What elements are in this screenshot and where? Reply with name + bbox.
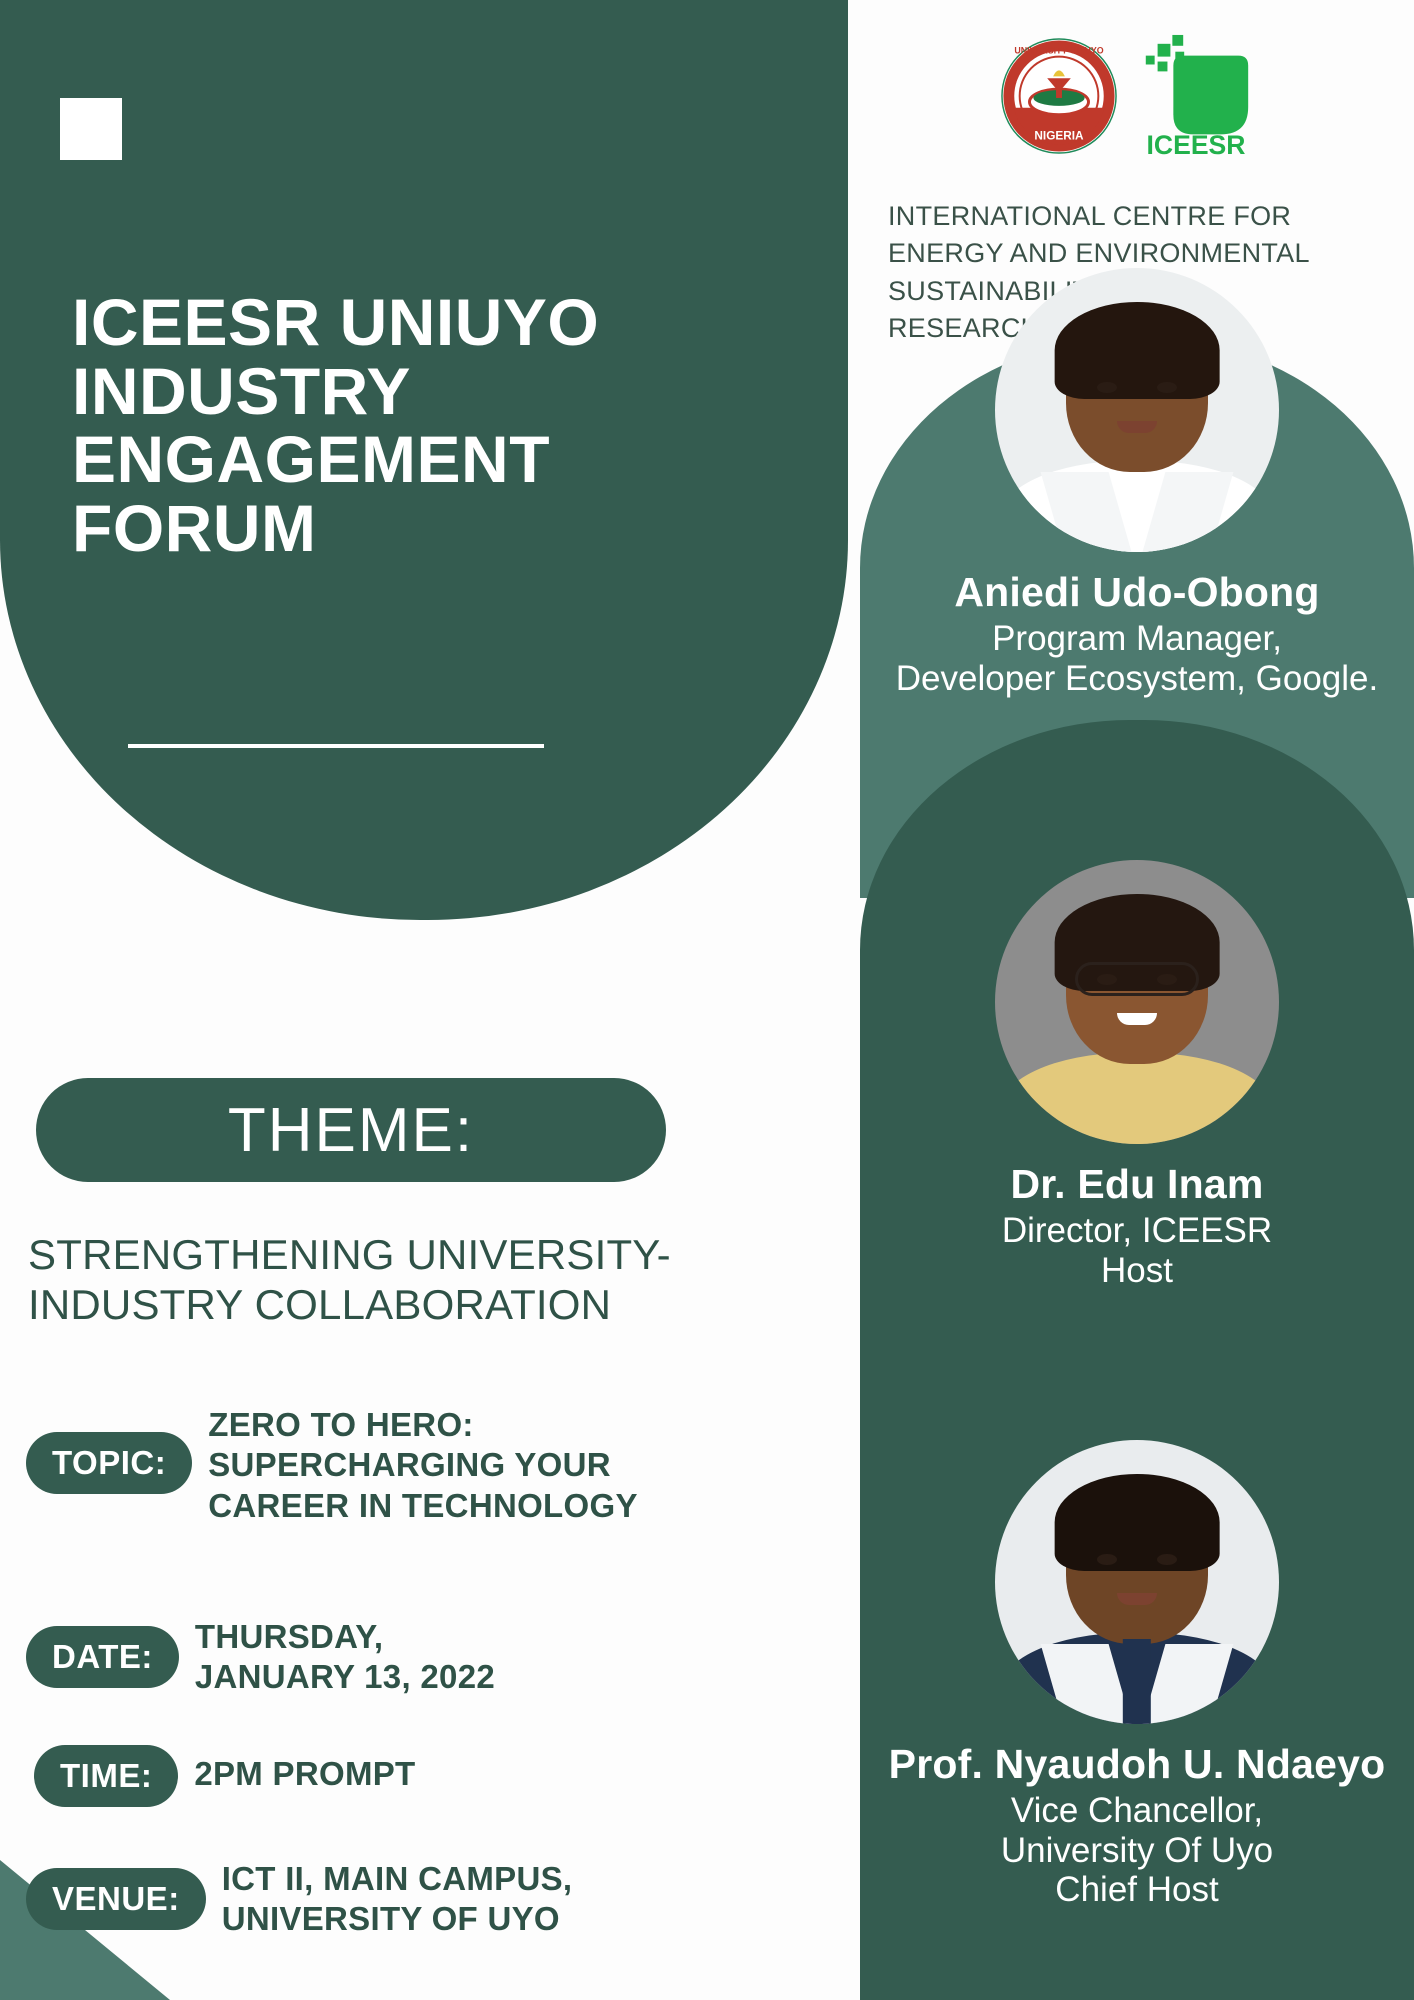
speaker-3-role: Vice Chancellor, University Of Uyo Chief… xyxy=(860,1791,1414,1910)
logo-group: NIGERIA UNIVERSITY OF UYO ICEESR xyxy=(1000,32,1300,160)
uniuyo-logo-icon: NIGERIA UNIVERSITY OF UYO xyxy=(1000,37,1118,155)
date-value: THURSDAY, JANUARY 13, 2022 xyxy=(195,1608,495,1698)
speaker-3-avatar xyxy=(995,1440,1279,1724)
title-line-2: INDUSTRY xyxy=(72,357,712,426)
topic-line-3: CAREER IN TECHNOLOGY xyxy=(208,1486,638,1526)
speaker-card-2: Dr. Edu Inam Director, ICEESR Host xyxy=(860,860,1414,1290)
detail-row-time: TIME: 2PM PROMPT xyxy=(34,1745,416,1807)
venue-label: VENUE: xyxy=(26,1868,206,1930)
speaker-3-name: Prof. Nyaudoh U. Ndaeyo xyxy=(860,1742,1414,1787)
title-divider xyxy=(128,744,544,748)
title-line-3: ENGAGEMENT xyxy=(72,425,712,494)
detail-row-date: DATE: THURSDAY, JANUARY 13, 2022 xyxy=(26,1608,495,1698)
speaker-3-role-line-2: University Of Uyo xyxy=(860,1831,1414,1871)
iceesr-logo-icon: ICEESR xyxy=(1132,32,1260,160)
svg-text:UNIVERSITY OF UYO: UNIVERSITY OF UYO xyxy=(1014,46,1103,56)
speaker-2-role: Director, ICEESR Host xyxy=(860,1211,1414,1290)
venue-line-2: UNIVERSITY OF UYO xyxy=(222,1899,573,1939)
theme-line-1: STRENGTHENING UNIVERSITY- xyxy=(28,1230,708,1280)
topic-label: TOPIC: xyxy=(26,1432,192,1494)
topic-line-1: ZERO TO HERO: xyxy=(208,1405,638,1445)
date-line-2: JANUARY 13, 2022 xyxy=(195,1657,495,1697)
speaker-2-role-line-1: Director, ICEESR xyxy=(860,1211,1414,1251)
svg-text:ICEESR: ICEESR xyxy=(1147,130,1246,160)
speaker-1-role-line-2: Developer Ecosystem, Google. xyxy=(860,659,1414,699)
title-line-4: FORUM xyxy=(72,494,712,563)
speaker-card-3: Prof. Nyaudoh U. Ndaeyo Vice Chancellor,… xyxy=(860,1440,1414,1910)
time-value: 2PM PROMPT xyxy=(194,1745,415,1794)
venue-line-1: ICT II, MAIN CAMPUS, xyxy=(222,1859,573,1899)
speaker-card-1: Aniedi Udo-Obong Program Manager, Develo… xyxy=(860,268,1414,698)
time-line-1: 2PM PROMPT xyxy=(194,1754,415,1794)
speaker-1-avatar xyxy=(995,268,1279,552)
speaker-2-avatar xyxy=(995,860,1279,1144)
time-label: TIME: xyxy=(34,1745,178,1807)
topic-value: ZERO TO HERO: SUPERCHARGING YOUR CAREER … xyxy=(208,1396,638,1526)
detail-row-venue: VENUE: ICT II, MAIN CAMPUS, UNIVERSITY O… xyxy=(26,1850,572,1940)
detail-row-topic: TOPIC: ZERO TO HERO: SUPERCHARGING YOUR … xyxy=(26,1396,638,1526)
page-title: ICEESR UNIUYO INDUSTRY ENGAGEMENT FORUM xyxy=(72,288,712,563)
speaker-1-name: Aniedi Udo-Obong xyxy=(860,570,1414,615)
theme-line-2: INDUSTRY COLLABORATION xyxy=(28,1280,708,1330)
topic-line-2: SUPERCHARGING YOUR xyxy=(208,1445,638,1485)
theme-label-pill: THEME: xyxy=(36,1078,666,1182)
title-line-1: ICEESR UNIUYO xyxy=(72,288,712,357)
speaker-2-role-line-2: Host xyxy=(860,1251,1414,1291)
date-label: DATE: xyxy=(26,1626,179,1688)
speaker-2-name: Dr. Edu Inam xyxy=(860,1162,1414,1207)
theme-label: THEME: xyxy=(228,1095,474,1166)
event-poster: ICEESR UNIUYO INDUSTRY ENGAGEMENT FORUM … xyxy=(0,0,1414,2000)
speaker-3-role-line-3: Chief Host xyxy=(860,1870,1414,1910)
svg-text:NIGERIA: NIGERIA xyxy=(1034,128,1084,142)
accent-square xyxy=(60,98,122,160)
theme-text: STRENGTHENING UNIVERSITY- INDUSTRY COLLA… xyxy=(28,1230,708,1329)
speaker-1-role: Program Manager, Developer Ecosystem, Go… xyxy=(860,619,1414,698)
date-line-1: THURSDAY, xyxy=(195,1617,495,1657)
venue-value: ICT II, MAIN CAMPUS, UNIVERSITY OF UYO xyxy=(222,1850,573,1940)
speaker-1-role-line-1: Program Manager, xyxy=(860,619,1414,659)
speaker-3-role-line-1: Vice Chancellor, xyxy=(860,1791,1414,1831)
